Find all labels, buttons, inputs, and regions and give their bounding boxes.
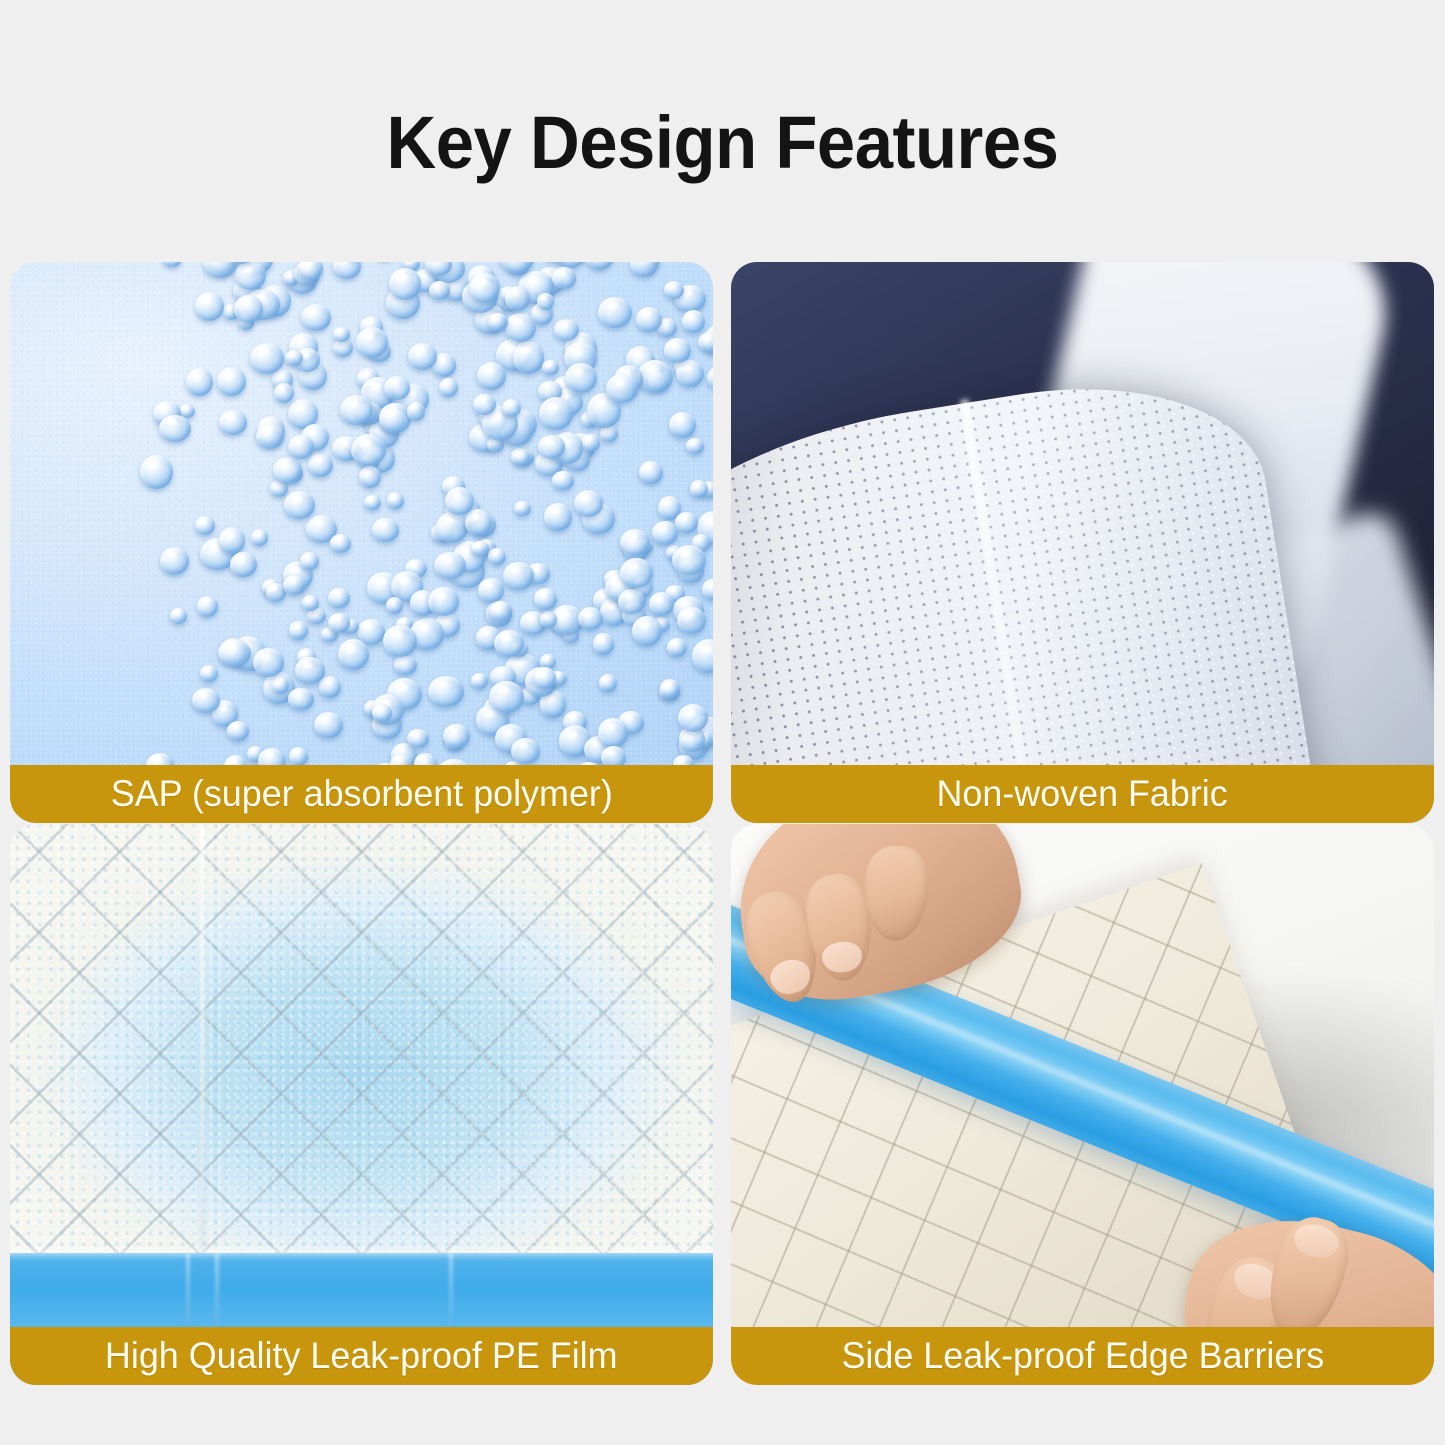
sap-bead [620,558,652,588]
sap-bead [618,589,645,615]
sap-bead [702,579,713,600]
sap-bead [540,611,557,628]
sap-bead [675,512,698,533]
sap-bead [284,491,315,519]
sap-bead [197,596,218,617]
edge-barriers-photo [731,824,1434,1385]
sap-bead [502,399,521,417]
sap-bead [162,262,181,267]
sap-bead [690,480,708,497]
sap-bead [667,638,687,658]
caption-label-nonwoven: Non-woven Fabric [937,774,1228,814]
sap-bead [372,518,399,542]
sap-bead [379,403,411,432]
sap-bead [698,332,713,353]
sap-bead [328,588,349,608]
sap-bead [471,541,488,556]
sap-bead [338,639,370,670]
sap-bead [251,529,268,545]
sap-bead [593,633,615,655]
sap-bead [389,268,422,300]
sap-bead [429,281,450,300]
sap-bead [707,366,713,390]
sap-bead [195,516,215,535]
sap-bead [503,562,535,590]
caption-label-pe-film: High Quality Leak-proof PE Film [105,1336,618,1376]
fingernail [1291,1220,1343,1263]
sap-bead [652,521,678,546]
sap-bead [386,597,403,614]
sap-bead [537,293,553,309]
sap-bead [578,607,602,630]
sap-bead [234,295,262,323]
sap-bead [288,688,313,711]
sap-bead [407,729,428,748]
sap-bead [534,667,556,689]
sap-bead [301,304,331,331]
sap-bead [677,607,707,634]
sap-bead [333,327,350,342]
sap-bead [295,657,324,683]
sap-bead [217,367,246,396]
sap-bead [682,310,705,334]
sap-bead [630,262,657,277]
sap-bead [219,410,248,435]
sap-bead [473,394,496,415]
sap-bead [407,402,426,421]
caption-bar-edge-barriers: Side Leak-proof Edge Barriers [731,1327,1434,1385]
sap-bead [672,545,706,575]
sap-bead [140,455,174,489]
caption-bar-sap: SAP (super absorbent polymer) [10,765,713,823]
sap-bead [203,262,238,278]
sap-bead [552,471,573,491]
sap-bead [273,457,302,483]
sap-bead [505,286,530,310]
feature-card-sap: SAP (super absorbent polymer) [10,262,713,823]
sap-bead [250,343,284,373]
sap-bead-cluster [10,262,713,823]
infographic-page: Key Design Features SAP (super absorbent… [0,0,1445,1445]
sap-bead [574,490,603,517]
caption-bar-nonwoven: Non-woven Fabric [731,765,1434,823]
sap-bead [534,588,556,610]
sap-bead [539,397,573,430]
sap-bead [384,376,410,401]
sap-bead [218,639,251,667]
sap-bead [489,681,523,713]
sap-bead [195,292,224,321]
sap-bead [600,425,618,442]
sap-bead [235,262,266,290]
sap-bead [505,313,536,342]
sap-bead [465,509,492,536]
feature-card-edge-barriers: Side Leak-proof Edge Barriers [731,824,1434,1385]
sap-bead [692,639,713,672]
sap-bead [227,721,250,742]
sap-bead [230,552,258,577]
sap-bead [253,648,283,677]
fingernail [821,941,863,975]
sap-bead [514,501,530,516]
sap-bead [511,738,540,765]
sap-bead [356,327,388,358]
sap-bead [300,552,319,571]
sap-bead [302,595,319,611]
sap-bead [256,424,284,449]
caption-bar-pe-film: High Quality Leak-proof PE Film [10,1327,713,1385]
sap-bead [359,466,382,489]
sap-bead [319,676,341,697]
sap-bead [289,747,308,766]
feature-card-nonwoven: Non-woven Fabric [731,262,1434,823]
sap-bead [542,360,558,375]
sap-bead [598,718,628,747]
sap-photo [10,262,713,823]
sap-bead [477,362,506,390]
sap-bead [443,724,469,748]
caption-label-sap: SAP (super absorbent polymer) [110,774,612,814]
sap-bead [387,492,404,508]
sap-bead [159,415,190,442]
sap-bead [706,262,713,267]
sap-bead [632,616,663,646]
sap-bead [289,621,309,641]
sap-bead [513,341,545,373]
sap-bead [439,378,458,397]
sap-bead [308,453,333,477]
sap-bead [428,587,459,615]
caption-label-edge-barriers: Side Leak-proof Edge Barriers [841,1336,1324,1376]
sap-bead [160,547,189,575]
sap-bead [664,338,691,363]
sap-bead [489,601,512,621]
sap-bead [581,434,601,453]
sap-bead [383,625,417,658]
sap-bead [686,438,704,454]
sap-bead [585,262,614,270]
sap-bead [298,262,323,280]
sap-bead [494,630,524,658]
sap-bead [488,313,508,332]
sap-bead [288,435,313,459]
sap-bead [170,608,187,624]
sap-bead [488,548,505,565]
sap-bead [599,674,617,692]
sap-bead [639,461,663,485]
sap-bead [676,360,703,387]
sap-bead [364,495,382,511]
fingernail [767,956,813,998]
sap-bead [606,374,638,403]
sap-bead [200,665,218,683]
sap-bead [565,363,597,393]
sap-bead [330,534,351,553]
sap-bead [538,435,565,458]
sap-bead [192,688,220,713]
feature-grid: SAP (super absorbent polymer) Non-woven … [10,262,1434,1385]
sap-bead [333,262,361,279]
sap-bead [428,676,464,707]
sap-bead [469,273,499,303]
pe-film-pad-crease [200,824,205,1284]
feature-card-pe-film: High Quality Leak-proof PE Film [10,824,713,1385]
sap-bead [471,673,489,689]
sap-bead [598,297,632,328]
page-title: Key Design Features [51,100,1395,186]
sap-bead [552,267,575,289]
sap-bead [649,592,674,616]
sap-bead [186,368,213,396]
sap-bead [283,575,306,595]
sap-bead [664,281,684,299]
nonwoven-photo [731,262,1434,823]
pe-film-photo [10,824,713,1385]
sap-bead [669,412,696,438]
sap-bead [272,676,289,693]
sap-bead [314,712,343,738]
sap-bead [219,527,246,553]
sap-bead [274,383,294,403]
sap-bead [436,512,468,542]
sap-bead [445,487,474,516]
sap-bead [394,655,417,675]
sap-bead [544,503,572,531]
